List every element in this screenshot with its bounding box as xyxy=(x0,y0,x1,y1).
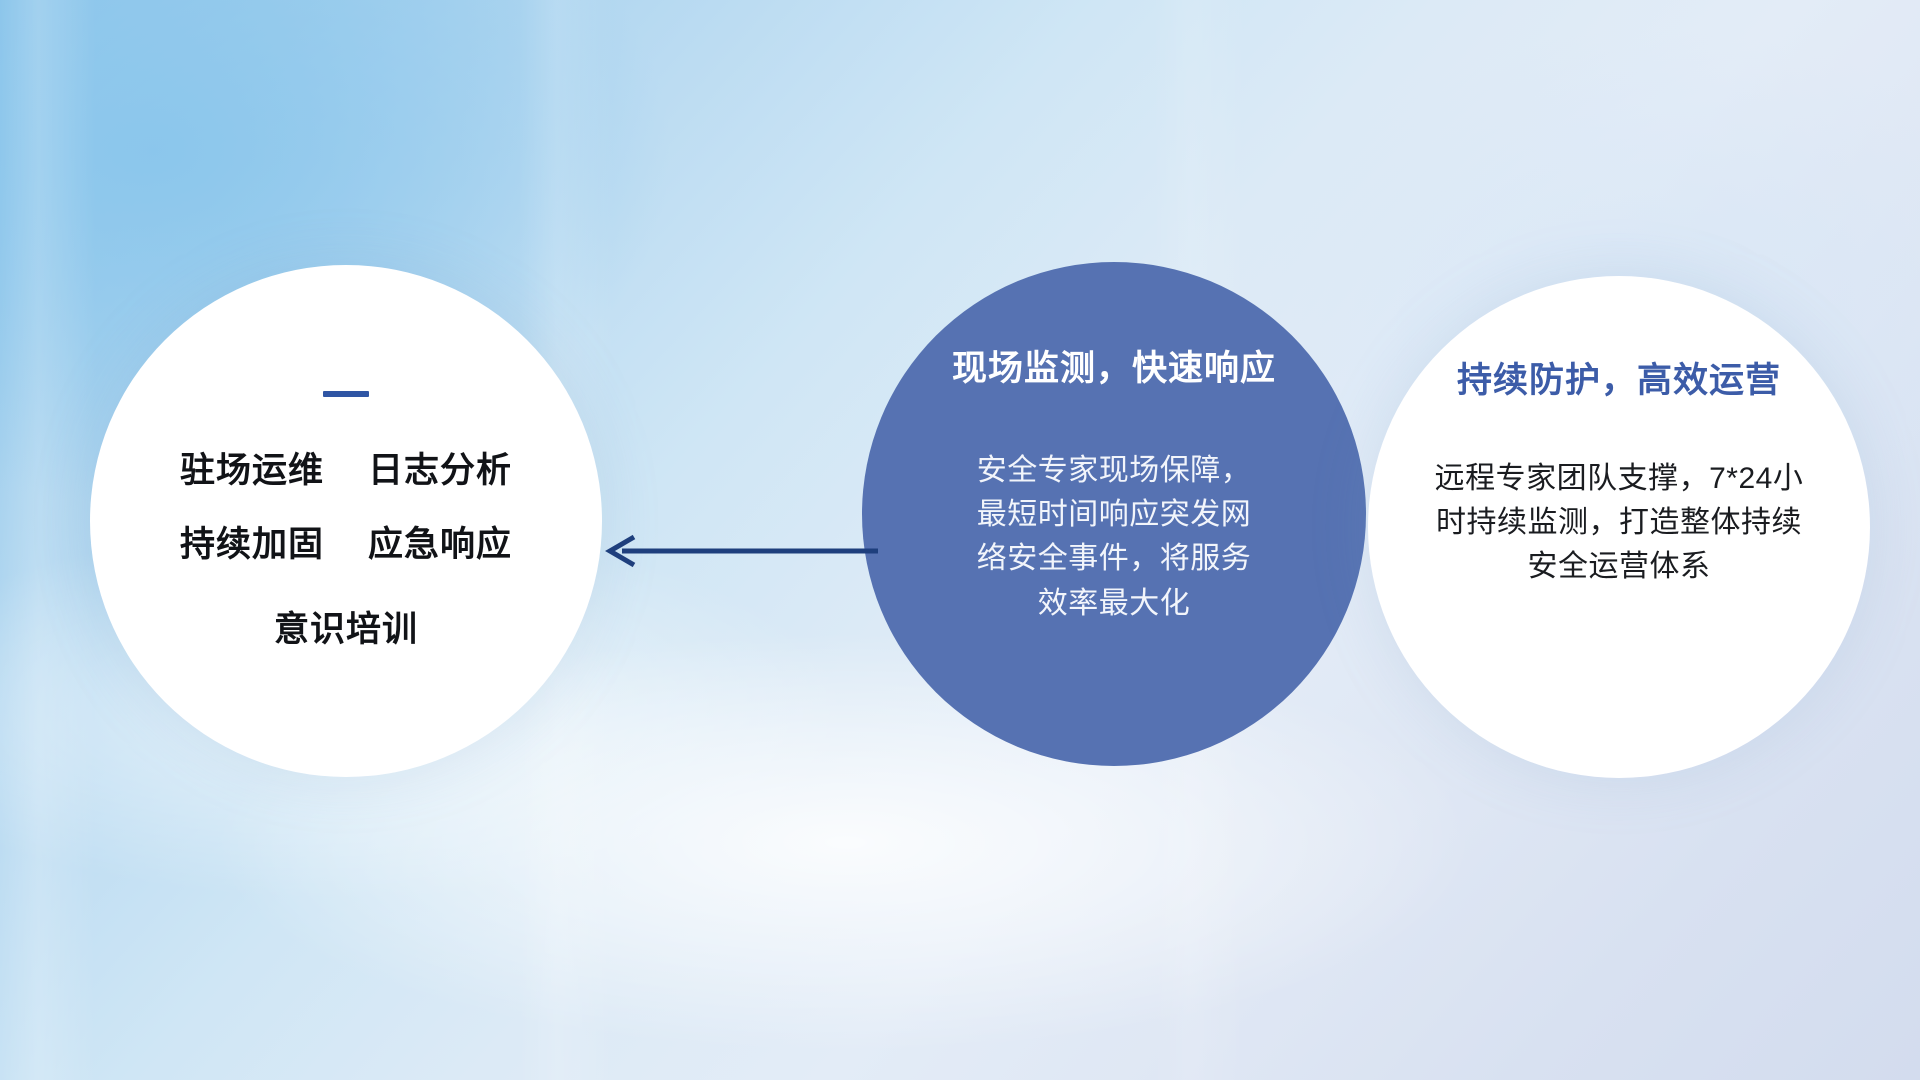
capabilities-circle: 驻场运维 日志分析 持续加固 应急响应 意识培训 xyxy=(90,265,602,777)
capability-item: 持续加固 xyxy=(180,527,324,564)
continuous-body: 远程专家团队支撑，7*24小时持续监测，打造整体持续安全运营体系 xyxy=(1433,457,1805,590)
capability-item: 日志分析 xyxy=(368,453,512,490)
capability-row: 持续加固 应急响应 xyxy=(180,527,512,564)
capability-item: 驻场运维 xyxy=(180,453,324,490)
slide-canvas: 驻场运维 日志分析 持续加固 应急响应 意识培训 现场监测，快速响应 安全专家现… xyxy=(0,0,1920,1080)
continuous-protection-circle: 持续防护，高效运营 远程专家团队支撑，7*24小时持续监测，打造整体持续安全运营… xyxy=(1368,276,1870,778)
onsite-body: 安全专家现场保障，最短时间响应突发网络安全事件，将服务效率最大化 xyxy=(964,449,1264,627)
continuous-title: 持续防护，高效运营 xyxy=(1457,362,1781,401)
capability-item: 意识培训 xyxy=(274,601,418,652)
onsite-monitoring-circle: 现场监测，快速响应 安全专家现场保障，最短时间响应突发网络安全事件，将服务效率最… xyxy=(862,262,1366,766)
horizontal-dash-icon xyxy=(323,391,369,397)
capability-row: 驻场运维 日志分析 xyxy=(180,453,512,490)
capability-item: 应急响应 xyxy=(368,527,512,564)
arrow-left-icon xyxy=(600,528,878,574)
onsite-title: 现场监测，快速响应 xyxy=(952,350,1276,389)
